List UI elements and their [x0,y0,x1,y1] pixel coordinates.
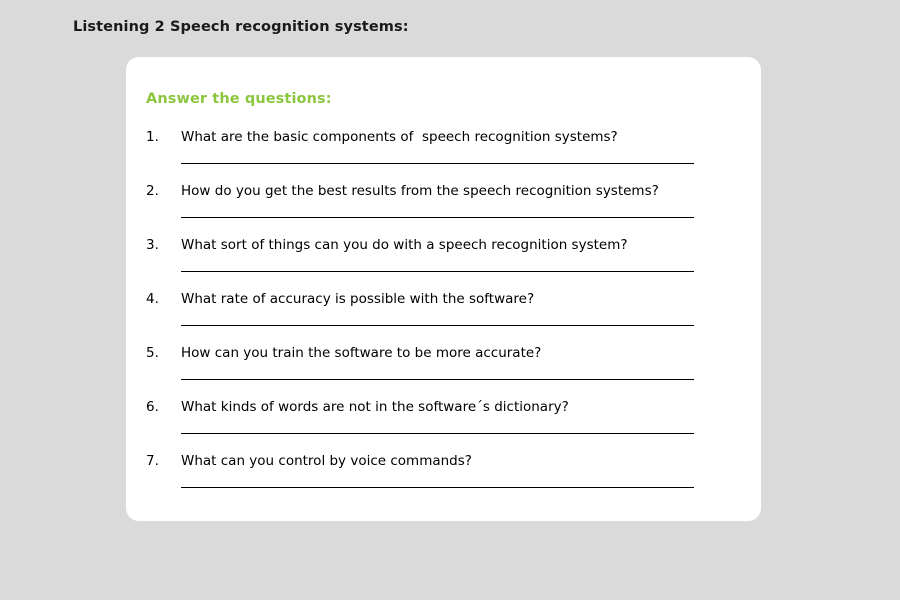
card-heading: Answer the questions: [146,91,332,107]
question-text: How do you get the best results from the… [181,181,659,201]
question-text: What sort of things can you do with a sp… [181,235,628,255]
question-item: 6. What kinds of words are not in the so… [126,397,761,451]
answer-line-input[interactable] [181,487,694,488]
question-text: What are the basic components of speech … [181,127,618,147]
answer-line-input[interactable] [181,433,694,434]
question-number: 6. [146,397,176,417]
answer-line-input[interactable] [181,271,694,272]
question-item: 5. How can you train the software to be … [126,343,761,397]
question-item: 4. What rate of accuracy is possible wit… [126,289,761,343]
answer-line-input[interactable] [181,325,694,326]
question-item: 3. What sort of things can you do with a… [126,235,761,289]
question-number: 5. [146,343,176,363]
question-text: What kinds of words are not in the softw… [181,397,569,417]
page-title: Listening 2 Speech recognition systems: [73,19,409,35]
answer-line-input[interactable] [181,217,694,218]
question-item: 1. What are the basic components of spee… [126,127,761,181]
question-number: 4. [146,289,176,309]
question-text: What can you control by voice commands? [181,451,472,471]
question-text: How can you train the software to be mor… [181,343,541,363]
question-number: 1. [146,127,176,147]
question-number: 2. [146,181,176,201]
question-item: 7. What can you control by voice command… [126,451,761,505]
answer-line-input[interactable] [181,379,694,380]
question-card: Answer the questions: 1. What are the ba… [126,57,761,521]
question-text: What rate of accuracy is possible with t… [181,289,534,309]
answer-line-input[interactable] [181,163,694,164]
question-item: 2. How do you get the best results from … [126,181,761,235]
question-number: 7. [146,451,176,471]
question-list: 1. What are the basic components of spee… [126,127,761,505]
question-number: 3. [146,235,176,255]
